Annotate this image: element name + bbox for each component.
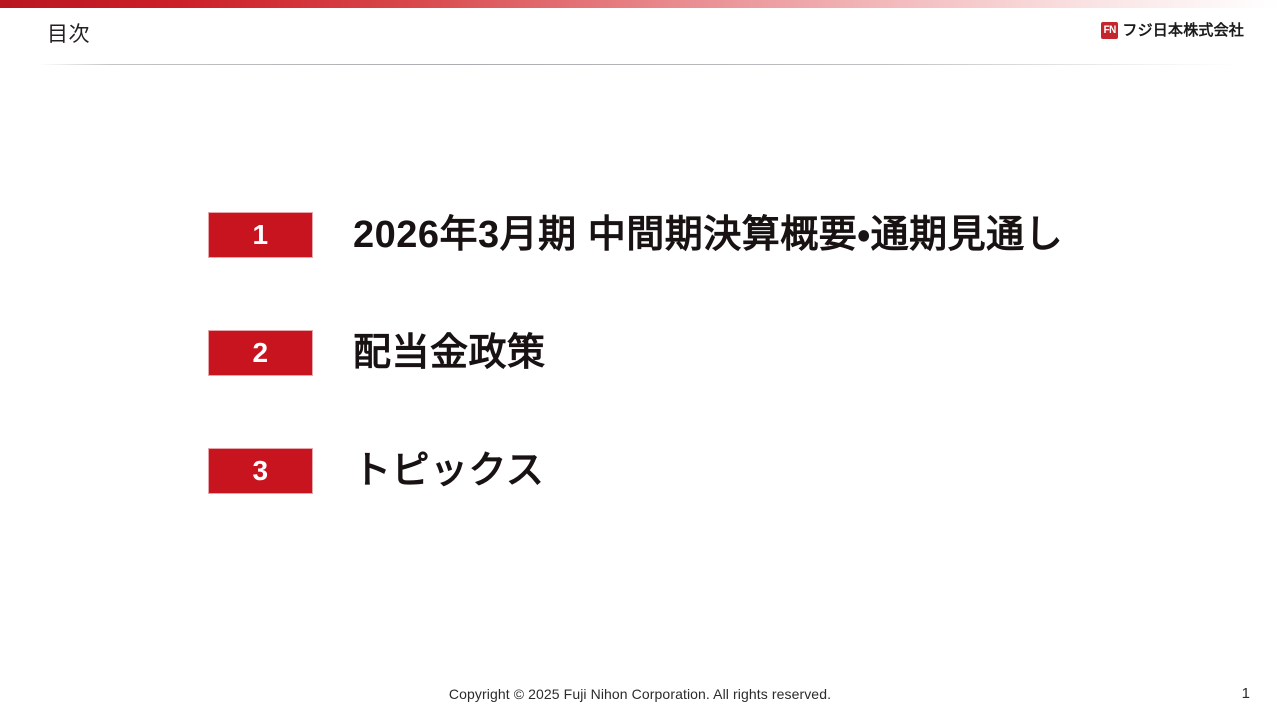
agenda-label-3: トピックス [353,448,544,494]
company-logo: FN フジ日本株式会社 [1101,22,1244,39]
agenda-label-1: 2026年3月期 中間期決算概要・通期見通し [353,212,1063,258]
fuji-nihon-logo-icon: FN [1101,22,1118,39]
page-number: 1 [1242,684,1250,704]
logo-mark-text: FN [1104,25,1116,36]
agenda-item-2[interactable]: 2 配当金政策 [208,330,1188,376]
top-accent-bar [0,0,1280,8]
copyright-notice: Copyright © 2025 Fuji Nihon Corporation.… [0,684,1280,704]
agenda-number-3: 3 [252,457,268,485]
agenda-number-2: 2 [252,339,268,367]
slide-table-of-contents: 目次 FN フジ日本株式会社 1 2026年3月期 中間期決算概要・通期見通し … [0,0,1280,720]
company-name: フジ日本株式会社 [1122,22,1244,39]
agenda-number-badge-2: 2 [208,330,313,376]
header-divider [38,64,1242,65]
agenda-number-1: 1 [252,221,268,249]
agenda-number-badge-3: 3 [208,448,313,494]
agenda-item-1[interactable]: 1 2026年3月期 中間期決算概要・通期見通し [208,212,1188,258]
agenda-number-badge-1: 1 [208,212,313,258]
agenda-list: 1 2026年3月期 中間期決算概要・通期見通し 2 配当金政策 3 トピックス [208,212,1188,494]
page-title: 目次 [47,21,90,49]
agenda-label-2: 配当金政策 [353,330,546,376]
slide-header: 目次 FN フジ日本株式会社 [0,8,1280,60]
agenda-item-3[interactable]: 3 トピックス [208,448,1188,494]
